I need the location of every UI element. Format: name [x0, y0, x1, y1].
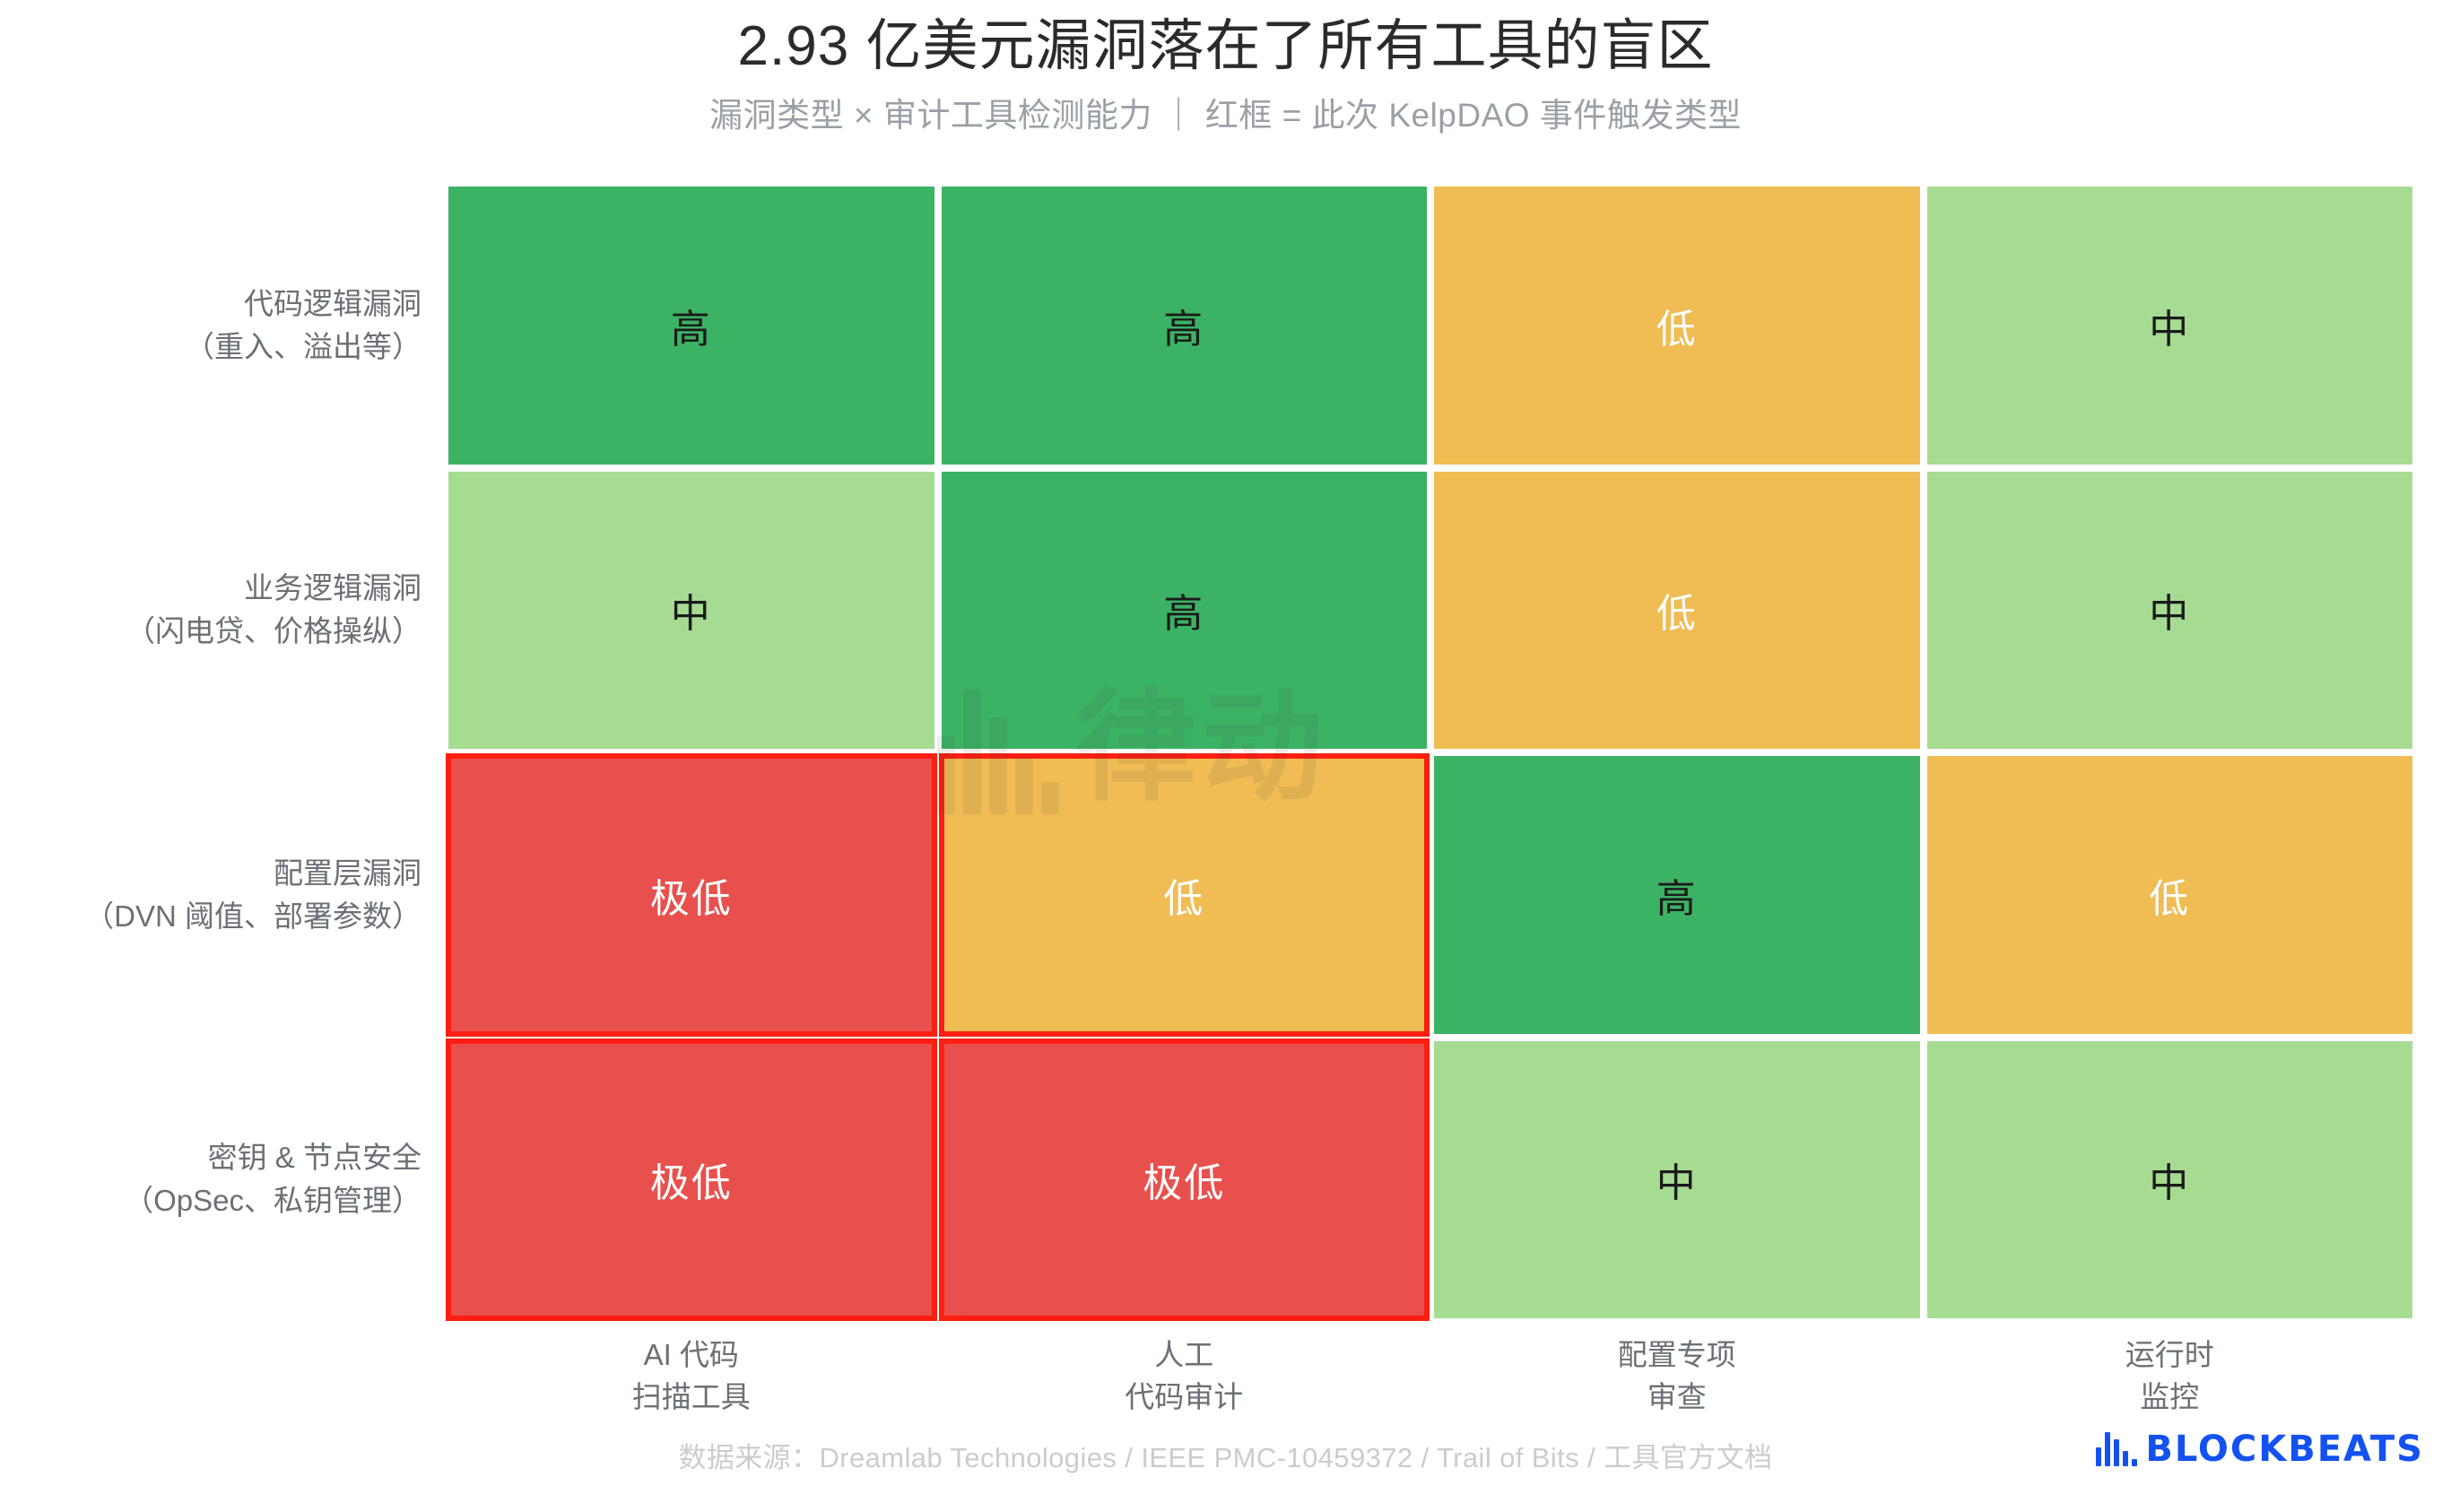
heatmap-cell[interactable]: 中	[1434, 1041, 1920, 1319]
cell-value: 中	[1656, 1151, 1698, 1208]
col-label-line2: 代码审计	[942, 1377, 1428, 1419]
heatmap-matrix: 律动 高 高 低 中 中 高 低 中 极低 低 高 低 极低 极低 中 中	[448, 187, 2412, 1318]
heatmap-cell[interactable]: 低	[1434, 472, 1920, 750]
row-label-config-layer: 配置层漏洞 （DVN 阈值、部署参数）	[0, 756, 441, 1034]
row-label-line2: （DVN 阈值、部署参数）	[84, 895, 422, 938]
chart-subtitle: 漏洞类型 × 审计工具检测能力 ｜ 红框 = 此次 KelpDAO 事件触发类型	[0, 78, 2451, 135]
heatmap-cell[interactable]: 中	[1927, 472, 2413, 750]
col-label-runtime-monitor: 运行时 监控	[1927, 1334, 2413, 1419]
heatmap-grid: 高 高 低 中 中 高 低 中 极低 低 高 低 极低 极低 中 中	[448, 187, 2412, 1318]
cell-value: 中	[671, 581, 712, 639]
row-label-line1: 业务逻辑漏洞	[244, 567, 422, 610]
col-label-line1: AI 代码	[448, 1334, 934, 1377]
cell-value: 极低	[650, 1151, 733, 1208]
cell-value: 中	[2149, 297, 2190, 354]
cell-value: 高	[1656, 866, 1698, 924]
blockbeats-logo: BLOCKBEATS	[2096, 1431, 2424, 1467]
row-label-line2: （闪电贷、价格操纵）	[126, 610, 422, 653]
row-label-line1: 配置层漏洞	[274, 852, 422, 895]
cell-value: 高	[1163, 581, 1204, 639]
cell-value: 高	[671, 297, 712, 354]
row-label-key-node-security: 密钥 & 节点安全 （OpSec、私钥管理）	[0, 1041, 441, 1319]
chart-footer: 数据来源：Dreamlab Technologies / IEEE PMC-10…	[0, 1435, 2451, 1498]
col-label-line1: 人工	[942, 1334, 1428, 1377]
row-label-line2: （重入、溢出等）	[185, 326, 422, 369]
cell-value: 高	[1163, 297, 1204, 354]
col-label-line1: 配置专项	[1434, 1334, 1920, 1377]
col-label-line2: 扫描工具	[448, 1377, 934, 1419]
heatmap-cell[interactable]: 高	[942, 472, 1428, 750]
col-label-ai-scan: AI 代码 扫描工具	[448, 1334, 934, 1419]
row-label-line1: 密钥 & 节点安全	[208, 1136, 422, 1179]
brand-name: BLOCKBEATS	[2145, 1431, 2424, 1467]
cell-value: 低	[1163, 866, 1204, 924]
source-note: 数据来源：Dreamlab Technologies / IEEE PMC-10…	[0, 1435, 2451, 1475]
col-label-config-review: 配置专项 审查	[1434, 1334, 1920, 1419]
heatmap-cell[interactable]: 低	[1434, 187, 1920, 465]
cell-value: 低	[1656, 581, 1698, 639]
cell-value: 极低	[650, 866, 733, 924]
row-label-line1: 代码逻辑漏洞	[244, 282, 422, 326]
heatmap-cell[interactable]: 中	[1927, 187, 2413, 465]
row-label-line2: （OpSec、私钥管理）	[124, 1179, 422, 1222]
heatmap-cell[interactable]: 中	[1927, 1041, 2413, 1319]
col-label-line2: 监控	[1927, 1377, 2413, 1419]
heatmap-cell[interactable]: 低	[1927, 756, 2413, 1034]
row-label-code-logic: 代码逻辑漏洞 （重入、溢出等）	[0, 187, 441, 465]
blockbeats-bars-icon	[2096, 1432, 2137, 1466]
heatmap-cell[interactable]: 高	[942, 187, 1428, 465]
page-title: 2.93 亿美元漏洞落在了所有工具的盲区	[0, 0, 2451, 78]
cell-value: 低	[1656, 297, 1698, 354]
row-label-business-logic: 业务逻辑漏洞 （闪电贷、价格操纵）	[0, 472, 441, 750]
cell-value: 中	[2149, 581, 2190, 639]
chart-header: 2.93 亿美元漏洞落在了所有工具的盲区 漏洞类型 × 审计工具检测能力 ｜ 红…	[0, 0, 2451, 136]
heatmap-row-axis: 代码逻辑漏洞 （重入、溢出等） 业务逻辑漏洞 （闪电贷、价格操纵） 配置层漏洞 …	[0, 187, 441, 1318]
col-label-line1: 运行时	[1927, 1334, 2413, 1377]
heatmap-cell[interactable]: 高	[1434, 756, 1920, 1034]
heatmap-cell[interactable]: 高	[448, 187, 934, 465]
col-label-line2: 审查	[1434, 1377, 1920, 1419]
cell-value: 极低	[1143, 1151, 1225, 1208]
heatmap-cell-flagged[interactable]: 极低	[448, 756, 934, 1034]
heatmap-cell-flagged[interactable]: 极低	[942, 1041, 1428, 1319]
cell-value: 低	[2149, 866, 2190, 924]
cell-value: 中	[2149, 1151, 2190, 1208]
heatmap-cell[interactable]: 中	[448, 472, 934, 750]
heatmap-cell-flagged[interactable]: 低	[942, 756, 1428, 1034]
heatmap-cell-flagged[interactable]: 极低	[448, 1041, 934, 1319]
heatmap-column-axis: AI 代码 扫描工具 人工 代码审计 配置专项 审查 运行时 监控	[448, 1334, 2412, 1419]
col-label-manual-audit: 人工 代码审计	[942, 1334, 1428, 1419]
